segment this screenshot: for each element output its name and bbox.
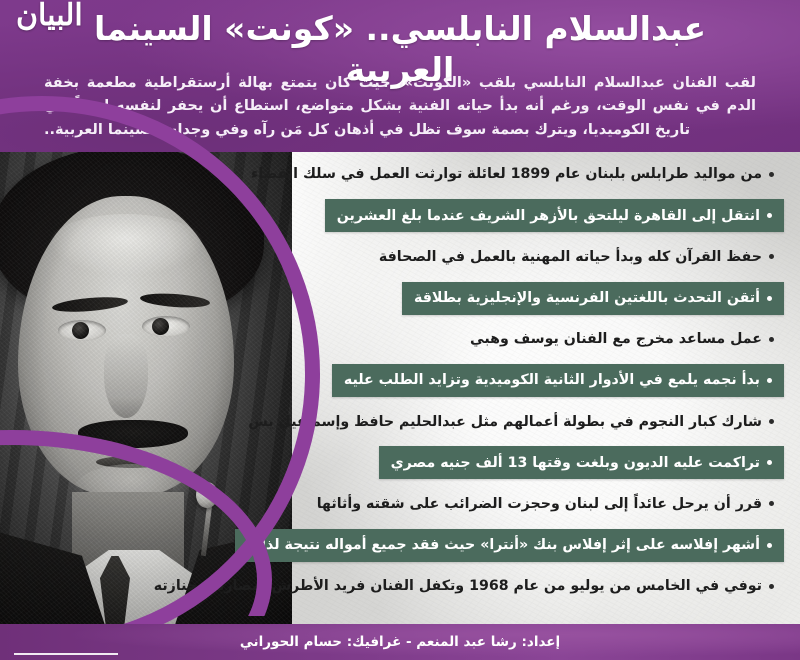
intro-paragraph: لقب الفنان عبدالسلام النابلسي بلقب «الكو… (44, 72, 756, 142)
bullet-icon (769, 254, 774, 259)
credits-text: إعداد: رشا عبد المنعم - غرافيك: حسام الح… (0, 624, 800, 660)
bullet-icon (769, 419, 774, 424)
bullet-icon (767, 296, 772, 301)
bullet-icon (767, 460, 772, 465)
bullet-icon (767, 378, 772, 383)
list-item: بدأ نجمه يلمع في الأدوار الثانية الكوميد… (332, 364, 784, 397)
bullet-icon (769, 501, 774, 506)
list-item-label: تراكمت عليه الديون وبلغت وقتها 13 ألف جن… (391, 456, 760, 470)
list-item-label: من مواليد طرابلس بلبنان عام 1899 لعائلة … (251, 167, 762, 181)
list-item: أشهر إفلاسه على إثر إفلاس بنك «أنترا» حي… (235, 529, 784, 562)
bullet-icon (767, 543, 772, 548)
list-item: أتقن التحدث باللغتين الفرنسية والإنجليزي… (402, 282, 784, 315)
bullet-icon (769, 337, 774, 342)
footer-bar: إعداد: رشا عبد المنعم - غرافيك: حسام الح… (0, 624, 800, 660)
list-item-label: شارك كبار النجوم في بطولة أعمالهم مثل عب… (248, 415, 762, 429)
list-item-label: عمل مساعد مخرج مع الفنان يوسف وهبي (470, 332, 762, 346)
albayan-logo: البيان (16, 0, 83, 33)
list-item: حفظ القرآن كله وبدأ حياته المهنية بالعمل… (300, 240, 784, 273)
list-item-label: حفظ القرآن كله وبدأ حياته المهنية بالعمل… (379, 250, 762, 264)
list-item: تراكمت عليه الديون وبلغت وقتها 13 ألف جن… (379, 446, 784, 479)
list-item-label: أشهر إفلاسه على إثر إفلاس بنك «أنترا» حي… (247, 538, 760, 552)
facts-list: من مواليد طرابلس بلبنان عام 1899 لعائلة … (300, 158, 784, 606)
bullet-icon (767, 213, 772, 218)
albayan-logo-underline (14, 653, 118, 655)
header-banner: عبدالسلام النابلسي.. «كونت» السينما العر… (0, 0, 800, 152)
list-item-label: أتقن التحدث باللغتين الفرنسية والإنجليزي… (414, 291, 760, 305)
list-item-label: انتقل إلى القاهرة ليلتحق بالأزهر الشريف … (337, 209, 760, 223)
bullet-icon (769, 172, 774, 177)
list-item-label: بدأ نجمه يلمع في الأدوار الثانية الكوميد… (344, 373, 760, 387)
list-item: توفي في الخامس من يوليو من عام 1968 وتكف… (300, 570, 784, 603)
list-item: شارك كبار النجوم في بطولة أعمالهم مثل عب… (300, 405, 784, 438)
list-item: عمل مساعد مخرج مع الفنان يوسف وهبي (300, 323, 784, 356)
infographic-page: عبدالسلام النابلسي.. «كونت» السينما العر… (0, 0, 800, 660)
list-item: انتقل إلى القاهرة ليلتحق بالأزهر الشريف … (325, 199, 784, 232)
list-item-label: قرر أن يرحل عائداً إلى لبنان وحجزت الضرا… (317, 497, 762, 511)
list-item-label: توفي في الخامس من يوليو من عام 1968 وتكف… (154, 579, 762, 593)
list-item: من مواليد طرابلس بلبنان عام 1899 لعائلة … (300, 158, 784, 191)
list-item: قرر أن يرحل عائداً إلى لبنان وحجزت الضرا… (300, 488, 784, 521)
bullet-icon (769, 584, 774, 589)
